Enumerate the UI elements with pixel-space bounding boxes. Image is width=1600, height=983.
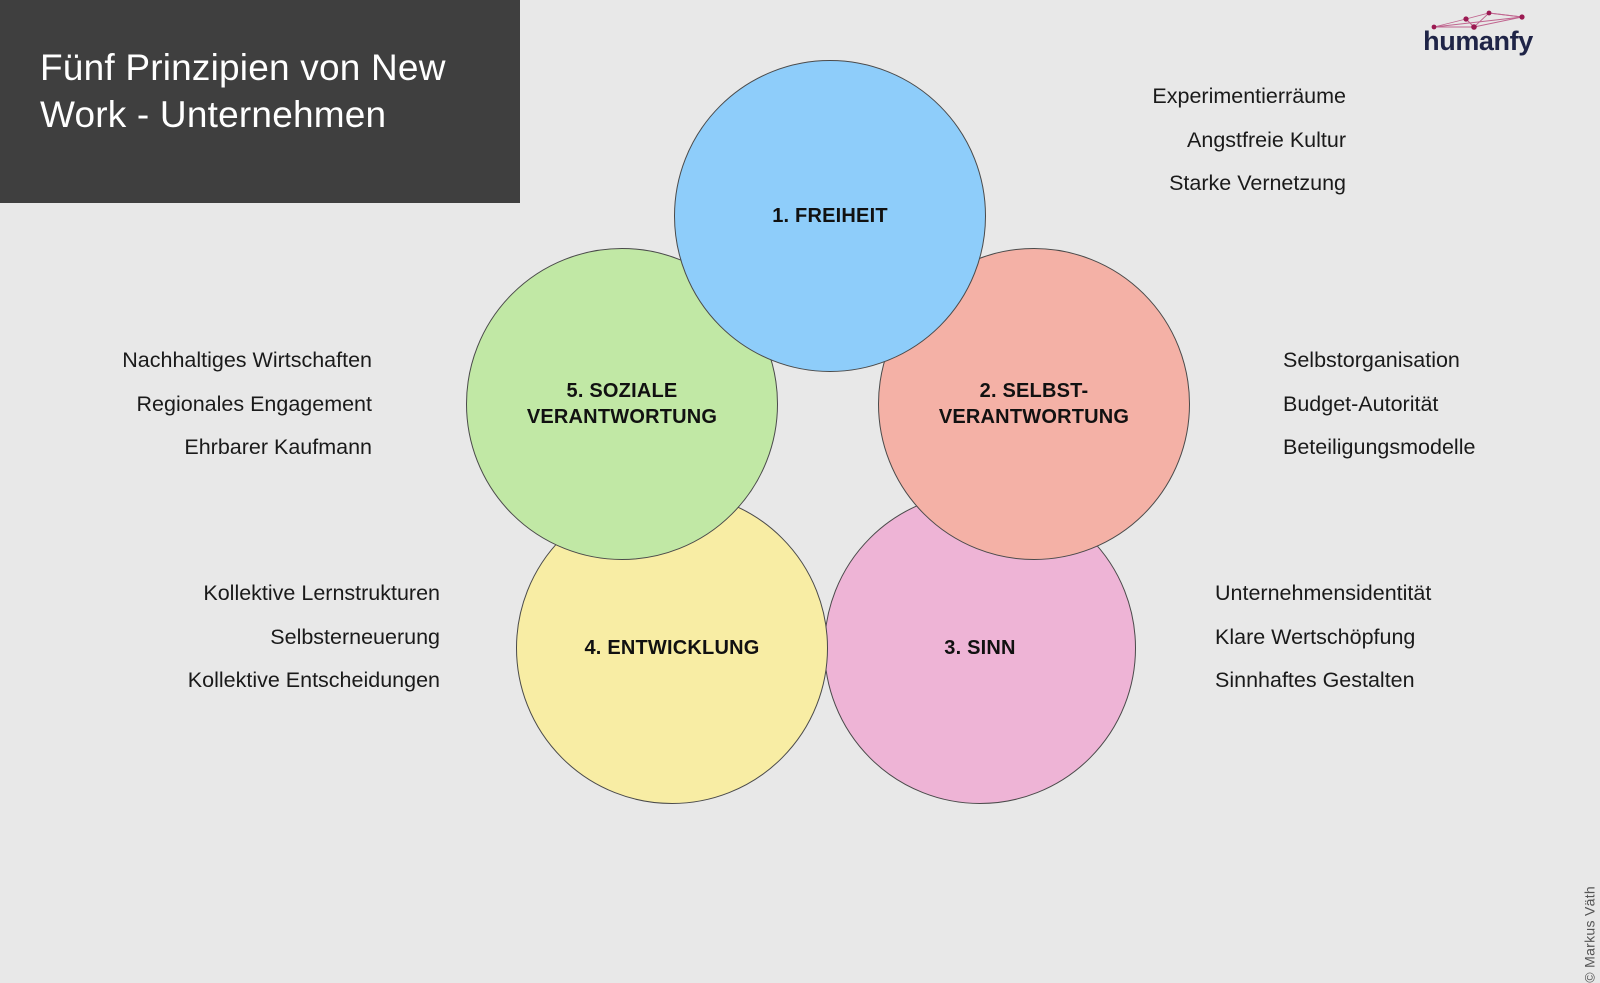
attribute-item: Beteiligungsmodelle: [1283, 437, 1475, 459]
attribute-item: Klare Wertschöpfung: [1215, 627, 1431, 649]
attribute-item: Regionales Engagement: [122, 394, 372, 416]
circle-label-freiheit: 1. FREIHEIT: [772, 203, 888, 229]
attributes-entwicklung: Kollektive Lernstrukturen Selbsterneueru…: [188, 583, 440, 692]
circle-label-selbstverantwortung: 2. SELBST- VERANTWORTUNG: [939, 378, 1129, 430]
copyright-notice: © Markus Väth: [1582, 886, 1598, 983]
circle-label-entwicklung: 4. ENTWICKLUNG: [584, 635, 759, 661]
attribute-item: Sinnhaftes Gestalten: [1215, 670, 1431, 692]
attribute-item: Selbsterneuerung: [188, 627, 440, 649]
attribute-item: Budget-Autorität: [1283, 394, 1475, 416]
attribute-item: Starke Vernetzung: [1152, 173, 1346, 195]
attribute-item: Kollektive Entscheidungen: [188, 670, 440, 692]
circle-label-soziale-verantwortung: 5. SOZIALE VERANTWORTUNG: [527, 378, 717, 430]
attributes-sinn: Unternehmensidentität Klare Wertschöpfun…: [1215, 583, 1431, 692]
attribute-item: Experimentierräume: [1152, 86, 1346, 108]
attribute-item: Nachhaltiges Wirtschaften: [122, 350, 372, 372]
circle-freiheit[interactable]: 1. FREIHEIT: [674, 60, 986, 372]
attributes-selbstverantwortung: Selbstorganisation Budget-Autorität Bete…: [1283, 350, 1475, 459]
attribute-item: Ehrbarer Kaufmann: [122, 437, 372, 459]
attribute-item: Angstfreie Kultur: [1152, 130, 1346, 152]
attribute-item: Selbstorganisation: [1283, 350, 1475, 372]
five-principles-diagram: 1. FREIHEIT 2. SELBST- VERANTWORTUNG 3. …: [0, 0, 1600, 900]
attribute-item: Kollektive Lernstrukturen: [188, 583, 440, 605]
attributes-freiheit: Experimentierräume Angstfreie Kultur Sta…: [1152, 86, 1346, 195]
attributes-soziale-verantwortung: Nachhaltiges Wirtschaften Regionales Eng…: [122, 350, 372, 459]
attribute-item: Unternehmensidentität: [1215, 583, 1431, 605]
circle-label-sinn: 3. SINN: [944, 635, 1015, 661]
